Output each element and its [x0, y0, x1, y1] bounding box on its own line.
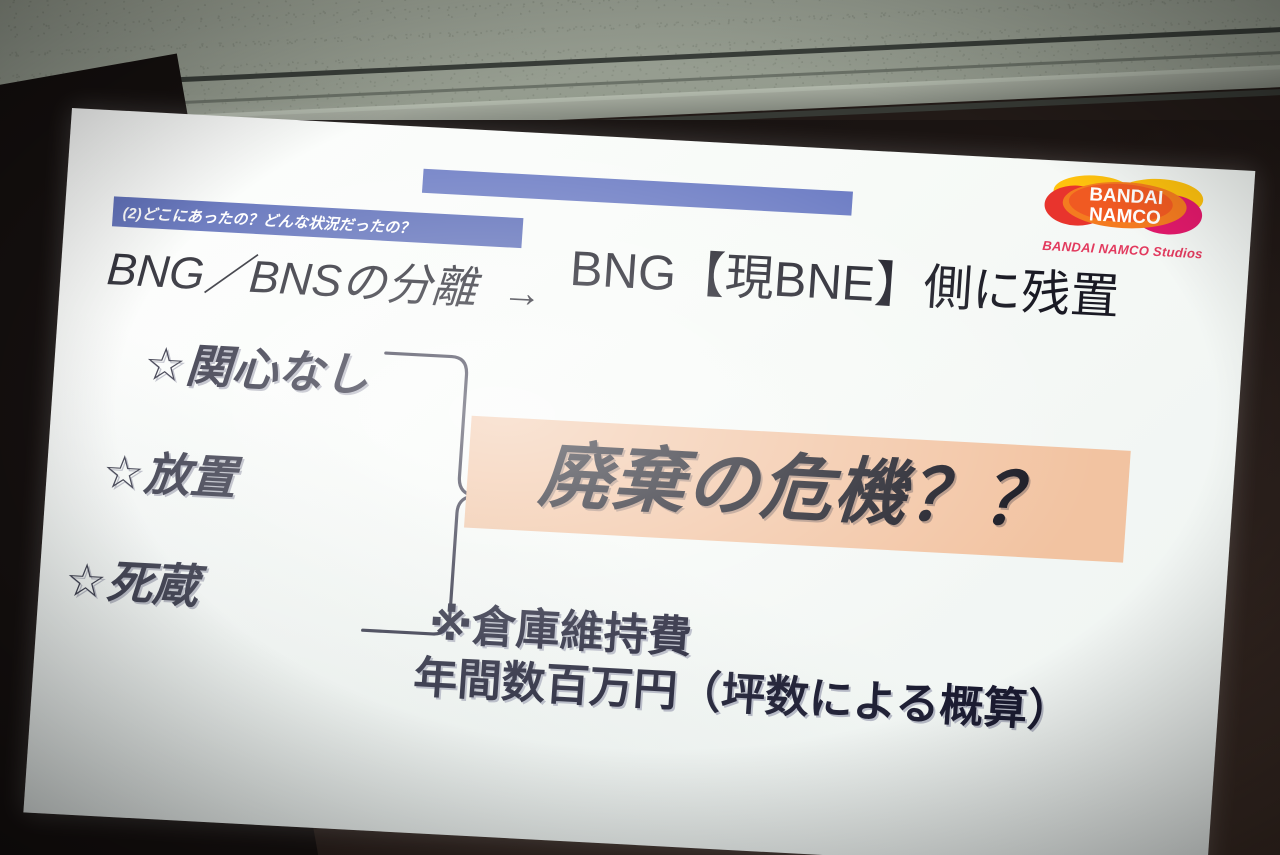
- emphasis-text: 廃棄の危機？？: [536, 439, 1058, 538]
- projected-slide: (2)どこにあったの？どんな状況だったの？ BNG／BNSの分離 → BNG【現…: [23, 108, 1255, 855]
- arrow-icon: →: [495, 270, 550, 318]
- headline-left: BNG／BNSの分離: [105, 232, 479, 317]
- bandai-namco-logo-icon: BANDAI NAMCO: [1039, 170, 1213, 241]
- star-icon: ☆: [64, 553, 109, 607]
- slide-accent-bar: [422, 169, 853, 216]
- brand-logo: BANDAI NAMCO BANDAI NAMCO Studios: [1029, 169, 1220, 262]
- list-item-label: 関心なし: [184, 339, 371, 401]
- list-item-label: 死蔵: [105, 556, 200, 613]
- star-icon: ☆: [143, 337, 188, 391]
- slide-footnote: ※倉庫維持費 年間数百万円（坪数による概算）: [424, 598, 1220, 747]
- list-item-label: 放置: [142, 447, 237, 504]
- slide-canvas: (2)どこにあったの？どんな状況だったの？ BNG／BNSの分離 → BNG【現…: [23, 108, 1255, 855]
- star-icon: ☆: [101, 445, 146, 499]
- logo-line-2: NAMCO: [1088, 204, 1161, 229]
- emphasis-callout: 廃棄の危機？？: [464, 416, 1131, 563]
- screenshot-stage: (2)どこにあったの？どんな状況だったの？ BNG／BNSの分離 → BNG【現…: [0, 0, 1280, 855]
